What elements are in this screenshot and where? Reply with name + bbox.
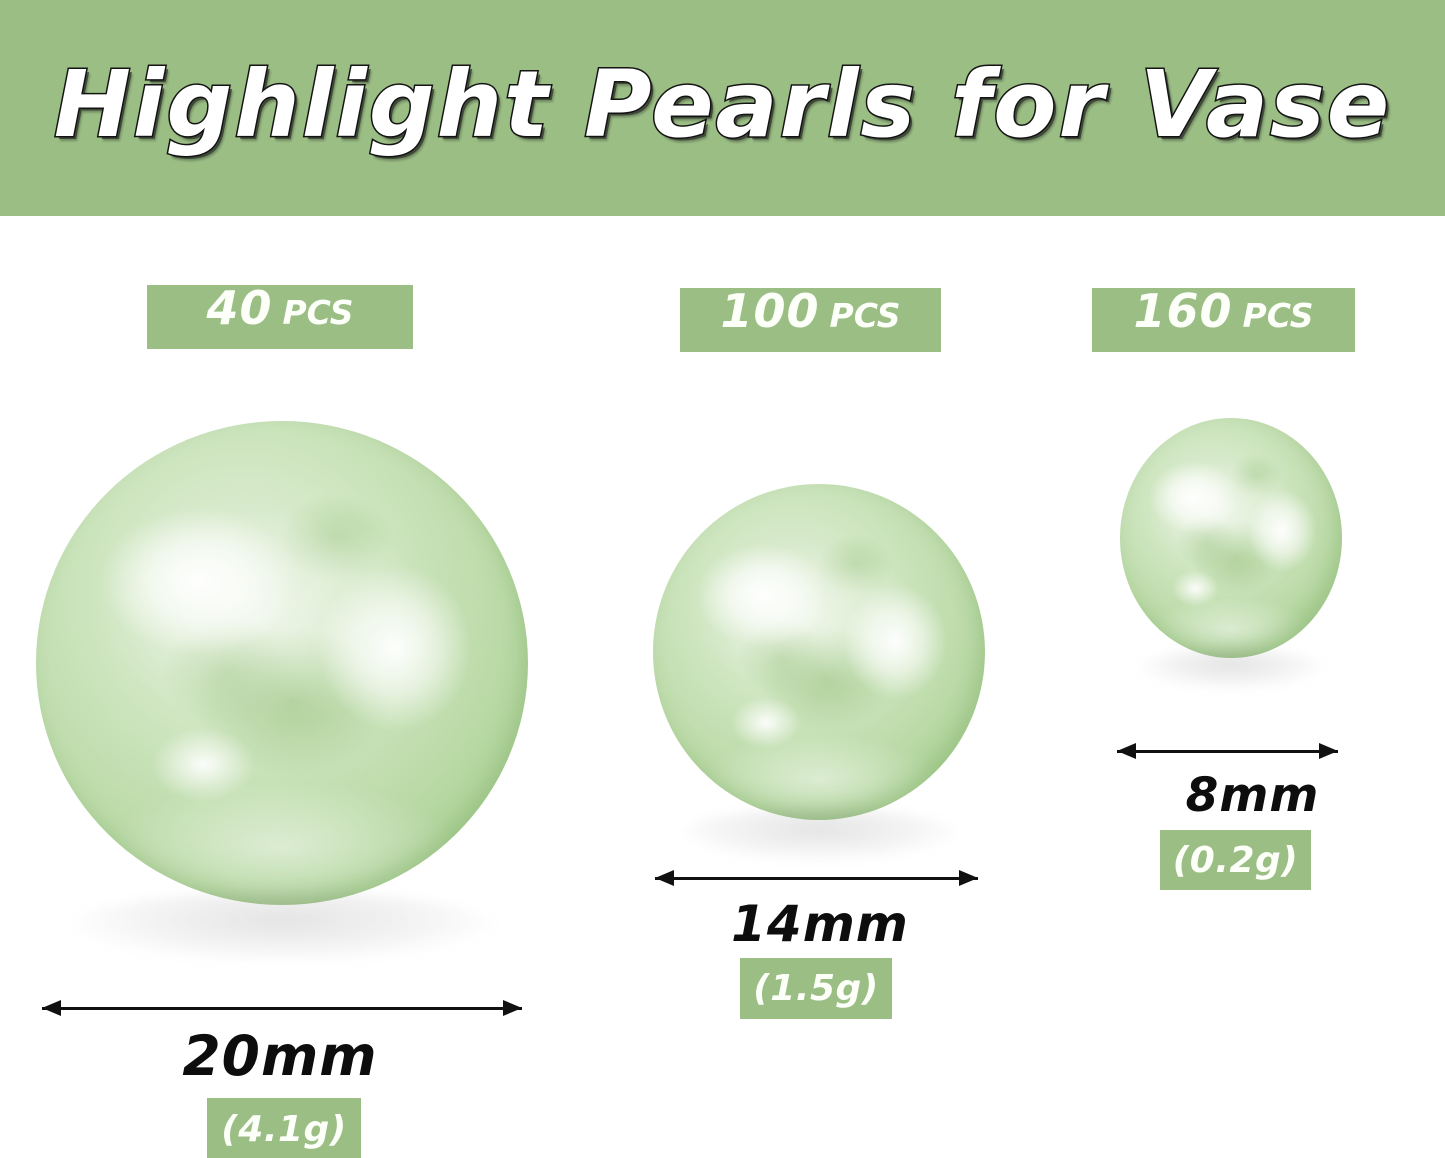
product-comparison-stage: 40 PCS 20mm (4.1g) 100 PCS: [0, 216, 1445, 1158]
dimension-arrow-14mm: [655, 869, 978, 887]
pearl-image-14mm: [653, 484, 985, 884]
diameter-label-14mm: 14mm: [620, 895, 1020, 953]
pearl-shadow: [1136, 648, 1326, 690]
pcs-badge-14mm: 100 PCS: [680, 288, 941, 352]
pcs-count-14mm: 100: [720, 288, 819, 334]
weight-text-8mm: (0.2g): [1173, 840, 1298, 881]
pearl-image-20mm: [36, 421, 528, 981]
pearl-sphere-icon: [653, 484, 985, 820]
weight-badge-8mm: (0.2g): [1160, 830, 1311, 890]
pcs-unit-8mm: PCS: [1243, 299, 1314, 332]
dimension-line: [42, 1007, 522, 1010]
pcs-unit-14mm: PCS: [830, 299, 901, 332]
weight-badge-20mm: (4.1g): [207, 1098, 361, 1158]
dimension-line: [655, 877, 978, 880]
weight-text-20mm: (4.1g): [221, 1109, 346, 1150]
pcs-count-20mm: 40: [206, 285, 272, 331]
pearl-image-8mm: [1120, 418, 1342, 698]
arrow-head-right-icon: [1319, 743, 1338, 759]
pearl-sphere-icon: [36, 421, 528, 905]
infographic-page: Highlight Pearls for Vase 40 PCS 20mm (4…: [0, 0, 1445, 1158]
diameter-label-8mm: 8mm: [1060, 768, 1445, 823]
pearl-sphere-icon: [1120, 418, 1342, 658]
header-banner: Highlight Pearls for Vase: [0, 0, 1445, 216]
page-title: Highlight Pearls for Vase: [54, 51, 1391, 158]
dimension-line: [1117, 750, 1338, 753]
pcs-badge-20mm: 40 PCS: [147, 285, 413, 349]
arrow-head-right-icon: [503, 1000, 522, 1016]
pcs-count-8mm: 160: [1133, 288, 1232, 334]
pearl-shadow: [67, 891, 497, 963]
dimension-arrow-20mm: [42, 999, 522, 1017]
weight-badge-14mm: (1.5g): [740, 958, 892, 1019]
arrow-head-right-icon: [959, 870, 978, 886]
pcs-badge-8mm: 160 PCS: [1092, 288, 1355, 352]
weight-text-14mm: (1.5g): [753, 968, 878, 1009]
diameter-label-20mm: 20mm: [0, 1024, 560, 1088]
dimension-arrow-8mm: [1117, 742, 1338, 760]
pearl-shadow: [676, 808, 962, 862]
pcs-unit-20mm: PCS: [283, 296, 354, 329]
